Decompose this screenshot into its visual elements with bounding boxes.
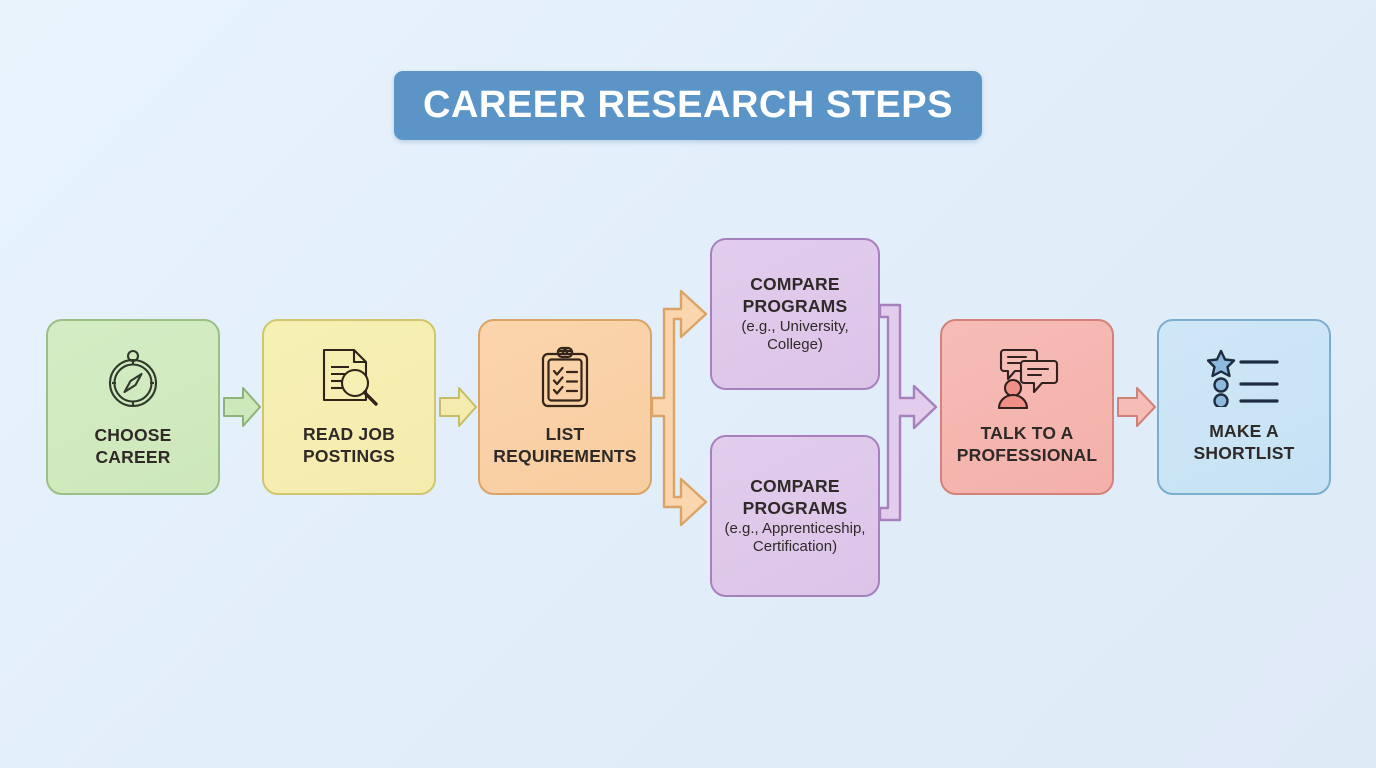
node-sublabel: (e.g., University, College) bbox=[741, 318, 848, 354]
page-title: CAREER RESEARCH STEPS bbox=[423, 84, 953, 127]
node-compare-programs-university[interactable]: COMPARE PROGRAMS (e.g., University, Coll… bbox=[710, 238, 880, 390]
node-label: READ JOB POSTINGS bbox=[303, 424, 395, 468]
node-sublabel: (e.g., Apprenticeship, Certification) bbox=[725, 520, 866, 556]
arrow-compare-merge-to-talk bbox=[880, 305, 936, 520]
speech-bubbles-person-icon bbox=[994, 347, 1060, 409]
node-read-job-postings[interactable]: READ JOB POSTINGS bbox=[262, 319, 436, 495]
arrow-choose-to-read bbox=[224, 388, 260, 426]
node-label: LIST REQUIREMENTS bbox=[493, 424, 636, 468]
document-search-icon bbox=[316, 346, 382, 410]
arrow-list-to-compare-branch bbox=[652, 291, 706, 525]
node-choose-career[interactable]: CHOOSE CAREER bbox=[46, 319, 220, 495]
node-make-a-shortlist[interactable]: MAKE A SHORTLIST bbox=[1157, 319, 1331, 495]
star-list-icon bbox=[1207, 349, 1281, 407]
compass-icon bbox=[103, 345, 163, 411]
node-label: CHOOSE CAREER bbox=[94, 425, 171, 469]
node-label: COMPARE PROGRAMS bbox=[743, 274, 848, 318]
node-talk-to-a-professional[interactable]: TALK TO A PROFESSIONAL bbox=[940, 319, 1114, 495]
arrow-read-to-list bbox=[440, 388, 476, 426]
page-title-banner: CAREER RESEARCH STEPS bbox=[394, 71, 982, 140]
diagram-canvas: CAREER RESEARCH STEPS bbox=[0, 0, 1376, 768]
node-label: TALK TO A PROFESSIONAL bbox=[957, 423, 1097, 467]
clipboard-checklist-icon bbox=[537, 346, 593, 410]
node-list-requirements[interactable]: LIST REQUIREMENTS bbox=[478, 319, 652, 495]
arrow-talk-to-shortlist bbox=[1118, 388, 1155, 426]
node-label: MAKE A SHORTLIST bbox=[1194, 421, 1295, 465]
node-compare-programs-apprenticeship[interactable]: COMPARE PROGRAMS (e.g., Apprenticeship, … bbox=[710, 435, 880, 597]
node-label: COMPARE PROGRAMS bbox=[743, 476, 848, 520]
